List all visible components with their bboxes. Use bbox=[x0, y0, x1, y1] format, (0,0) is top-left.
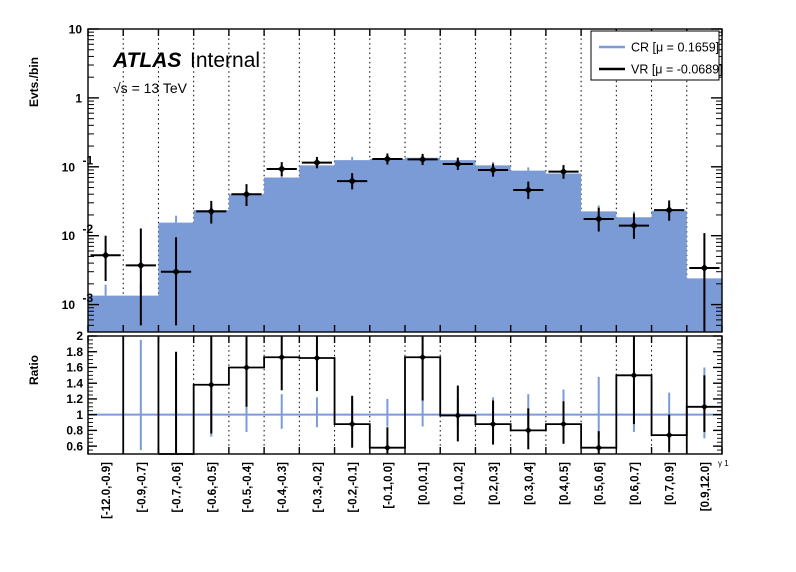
svg-text:0.6: 0.6 bbox=[66, 439, 83, 453]
svg-text:-1: -1 bbox=[83, 153, 94, 167]
bin-label: [0.4,0.5] bbox=[559, 462, 571, 505]
atlas-histogram-plot: Evts./bin 10110-110-210-3 ATLAS Internal… bbox=[0, 0, 796, 572]
svg-text:1.6: 1.6 bbox=[66, 361, 83, 375]
svg-text:-3: -3 bbox=[83, 291, 94, 305]
main-y-axis-title: Evts./bin bbox=[27, 57, 41, 107]
bin-label: [0.3,0.4] bbox=[524, 462, 536, 505]
bin-label: [-0.1,0.0] bbox=[383, 462, 395, 509]
svg-text:10: 10 bbox=[69, 23, 83, 37]
bin-label: [-0.4,-0.3] bbox=[277, 462, 289, 513]
svg-text:1: 1 bbox=[76, 408, 83, 422]
bin-label: [0.1,0.2] bbox=[453, 462, 465, 505]
legend-label: VR [μ = -0.0689] bbox=[631, 63, 723, 77]
ratio-y-tick-labels: 21.81.61.41.210.80.6 bbox=[66, 329, 83, 453]
bin-label: [-0.7,-0.6] bbox=[172, 462, 184, 513]
energy-label: √s = 13 TeV bbox=[113, 80, 188, 96]
bin-label: [-0.9,-0.7] bbox=[136, 462, 148, 513]
svg-text:10: 10 bbox=[62, 298, 76, 312]
svg-text:1.2: 1.2 bbox=[66, 392, 83, 406]
bin-label: [-0.3,-0.2] bbox=[312, 462, 324, 513]
bin-label: [0.5,0.6] bbox=[594, 462, 606, 505]
svg-text:10: 10 bbox=[62, 160, 76, 174]
svg-text:0.8: 0.8 bbox=[66, 424, 83, 438]
bin-label: [-0.2,-0.1] bbox=[348, 462, 360, 513]
bin-label: [-0.5,-0.4] bbox=[242, 462, 254, 513]
figure-canvas: Evts./bin 10110-110-210-3 ATLAS Internal… bbox=[0, 0, 796, 572]
svg-text:1.4: 1.4 bbox=[66, 376, 83, 390]
internal-label: Internal bbox=[190, 49, 260, 72]
svg-text:-2: -2 bbox=[83, 222, 94, 236]
svg-text:1: 1 bbox=[75, 91, 82, 105]
svg-text:10: 10 bbox=[62, 229, 76, 243]
bin-label: [0.2,0.3] bbox=[489, 462, 501, 505]
atlas-label: ATLAS bbox=[112, 49, 181, 72]
bin-label: [-0.6,-0.5] bbox=[207, 462, 219, 513]
x-axis-title: γ 1 bbox=[718, 459, 729, 468]
bin-label: [0.7,0.9] bbox=[665, 462, 677, 505]
bin-label: [0.0,0.1] bbox=[418, 462, 430, 505]
legend-label: CR [μ = 0.1659] bbox=[631, 41, 719, 55]
svg-text:1.8: 1.8 bbox=[66, 345, 83, 359]
svg-text:2: 2 bbox=[76, 329, 83, 343]
bin-label: [0.9,12.0] bbox=[700, 462, 712, 511]
legend: CR [μ = 0.1659]VR [μ = -0.0689] bbox=[591, 31, 723, 80]
bin-label: [-12.0,-0.9] bbox=[101, 462, 113, 519]
bin-label: [0.6,0.7] bbox=[629, 462, 641, 505]
ratio-y-axis-title: Ratio bbox=[27, 355, 41, 385]
